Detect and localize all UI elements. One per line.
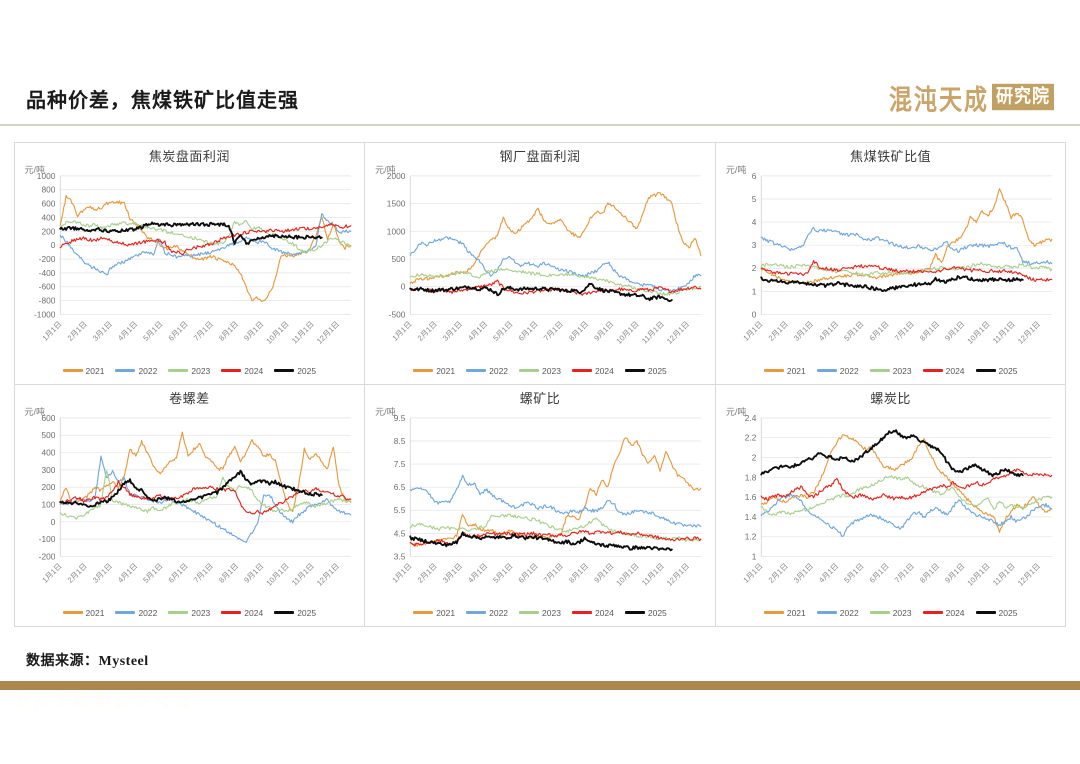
x-axis-tick-label: 2月1日	[416, 561, 439, 584]
legend-label: 2021	[86, 366, 105, 376]
legend-swatch-2023	[519, 611, 539, 614]
x-axis-tick-label: 3月1日	[792, 319, 815, 342]
y-axis-tick-label: 1.8	[745, 472, 757, 482]
legend-swatch-2023	[519, 369, 539, 372]
chart-panel-coke-board-profit: 元/吨焦炭盘面利润-1000-800-600-400-2000200400600…	[14, 142, 366, 385]
x-axis-tick-label: 5月1日	[842, 319, 865, 342]
chart-plot-area: -50005001000150020001月1日2月1日3月1日4月1日5月1日…	[371, 166, 709, 360]
legend-item-2023[interactable]: 2023	[870, 366, 912, 376]
y-axis-tick-label: 800	[41, 184, 55, 194]
x-axis-tick-label: 5月1日	[141, 561, 164, 584]
y-axis-tick-label: 600	[41, 412, 55, 422]
y-axis-tick-label: 200	[41, 226, 55, 236]
legend-swatch-2024	[923, 611, 943, 614]
y-axis-tick-label: 100	[41, 499, 55, 509]
legend-label: 2024	[946, 366, 965, 376]
legend-label: 2022	[840, 608, 859, 618]
legend-item-2021[interactable]: 2021	[413, 608, 455, 618]
brand-logo: 混沌天成 研究院	[889, 80, 1054, 114]
series-line-2021	[60, 195, 351, 301]
legend-item-2021[interactable]: 2021	[63, 366, 105, 376]
x-axis-tick-label: 7月1日	[542, 561, 565, 584]
x-axis-tick-label: 7月1日	[542, 319, 565, 342]
legend-item-2024[interactable]: 2024	[923, 608, 965, 618]
legend-swatch-2025	[625, 369, 645, 372]
x-axis-tick-label: 4月1日	[817, 561, 840, 584]
chart-plot-area: 01234561月1日2月1日3月1日4月1日5月1日6月1日7月1日8月1日9…	[722, 166, 1060, 360]
legend-item-2024[interactable]: 2024	[572, 608, 614, 618]
series-line-2025	[60, 222, 321, 244]
chart-plot-area: -200-10001002003004005006001月1日2月1日3月1日4…	[21, 408, 359, 602]
x-axis-tick-label: 10月1日	[965, 319, 991, 345]
y-axis-tick-label: -100	[38, 534, 55, 544]
x-axis-tick-label: 9月1日	[592, 561, 615, 584]
x-axis-tick-label: 12月1日	[665, 319, 691, 345]
legend-label: 2024	[244, 366, 263, 376]
y-axis-tick-label: 5	[752, 193, 757, 203]
legend-label: 2025	[648, 366, 667, 376]
y-axis-tick-label: 9.5	[394, 412, 406, 422]
legend-label: 2025	[999, 608, 1018, 618]
y-axis-tick-label: 1000	[36, 170, 55, 180]
legend-label: 2024	[244, 608, 263, 618]
x-axis-tick-label: 11月1日	[991, 319, 1017, 345]
y-axis-tick-label: 0	[50, 240, 55, 250]
x-axis-tick-label: 1月1日	[40, 561, 63, 584]
chart-legend: 20212022202320242025	[371, 602, 709, 624]
legend-label: 2024	[946, 608, 965, 618]
x-axis-tick-label: 9月1日	[592, 319, 615, 342]
y-axis-tick-label: 600	[41, 198, 55, 208]
chart-panel-rebar-coke-ratio: 元/吨螺炭比11.21.41.61.822.22.41月1日2月1日3月1日4月…	[715, 384, 1067, 627]
x-axis-tick-label: 7月1日	[893, 561, 916, 584]
legend-item-2024[interactable]: 2024	[572, 366, 614, 376]
data-source-label: 数据来源：	[26, 654, 99, 669]
chart-title: 焦煤铁矿比值	[722, 147, 1060, 166]
x-axis-tick-label: 10月1日	[965, 561, 991, 587]
y-axis-tick-label: -200	[38, 551, 55, 561]
legend-label: 2021	[436, 608, 455, 618]
legend-item-2022[interactable]: 2022	[115, 608, 157, 618]
y-axis-tick-label: 8.5	[394, 435, 406, 445]
x-axis-tick-label: 5月1日	[141, 319, 164, 342]
y-axis-tick-label: 500	[392, 253, 406, 263]
legend-item-2024[interactable]: 2024	[221, 366, 263, 376]
chart-legend: 20212022202320242025	[21, 602, 359, 624]
legend-swatch-2024	[572, 611, 592, 614]
chart-legend: 20212022202320242025	[21, 360, 359, 382]
legend-label: 2022	[489, 608, 508, 618]
y-axis-tick-label: 6	[752, 170, 757, 180]
x-axis-tick-label: 10月1日	[615, 561, 641, 587]
legend-swatch-2021	[764, 611, 784, 614]
x-axis-tick-label: 3月1日	[90, 319, 113, 342]
legend-label: 2025	[297, 366, 316, 376]
y-axis-tick-label: 1500	[387, 198, 406, 208]
legend-item-2025[interactable]: 2025	[625, 366, 667, 376]
series-line-2022	[761, 493, 1052, 536]
header-divider-rule	[0, 124, 1080, 126]
x-axis-tick-label: 2月1日	[65, 319, 88, 342]
legend-label: 2024	[595, 366, 614, 376]
legend-swatch-2025	[274, 611, 294, 614]
x-axis-tick-label: 9月1日	[242, 319, 265, 342]
chart-legend: 20212022202320242025	[722, 360, 1060, 382]
legend-label: 2025	[999, 366, 1018, 376]
chart-title: 钢厂盘面利润	[371, 147, 709, 166]
y-axis-tick-label: -600	[38, 281, 55, 291]
y-axis-tick-label: 7.5	[394, 459, 406, 469]
x-axis-tick-label: 3月1日	[441, 319, 464, 342]
y-axis-tick-label: 1.2	[745, 531, 757, 541]
x-axis-tick-label: 3月1日	[90, 561, 113, 584]
x-axis-tick-label: 8月1日	[918, 561, 941, 584]
y-axis-tick-label: 3.5	[394, 551, 406, 561]
x-axis-tick-label: 5月1日	[492, 319, 515, 342]
x-axis-tick-label: 5月1日	[842, 561, 865, 584]
series-line-2022	[761, 227, 1052, 264]
legend-item-2022[interactable]: 2022	[817, 366, 859, 376]
chart-title: 螺矿比	[371, 389, 709, 408]
legend-swatch-2023	[168, 369, 188, 372]
chart-plot-area: 11.21.41.61.822.22.41月1日2月1日3月1日4月1日5月1日…	[722, 408, 1060, 602]
y-axis-tick-label: -1000	[34, 309, 56, 319]
legend-label: 2025	[648, 608, 667, 618]
legend-swatch-2022	[466, 369, 486, 372]
x-axis-tick-label: 6月1日	[867, 561, 890, 584]
y-axis-tick-label: 400	[41, 212, 55, 222]
x-axis-tick-label: 4月1日	[116, 319, 139, 342]
x-axis-tick-label: 11月1日	[290, 319, 316, 345]
y-axis-tick-label: 1.6	[745, 492, 757, 502]
x-axis-tick-label: 4月1日	[817, 319, 840, 342]
x-axis-tick-label: 2月1日	[767, 319, 790, 342]
x-axis-tick-label: 6月1日	[517, 561, 540, 584]
series-line-2021	[410, 437, 701, 545]
chart-panel-coking-coal-iron-ore-ratio: 元/吨焦煤铁矿比值01234561月1日2月1日3月1日4月1日5月1日6月1日…	[715, 142, 1067, 385]
legend-item-2025[interactable]: 2025	[625, 608, 667, 618]
legend-swatch-2025	[976, 369, 996, 372]
y-axis-tick-label: 2.4	[745, 412, 757, 422]
x-axis-tick-label: 1月1日	[741, 319, 764, 342]
chart-title: 卷螺差	[21, 389, 359, 408]
page-title: 品种价差，焦煤铁矿比值走强	[26, 84, 299, 113]
legend-swatch-2023	[870, 611, 890, 614]
y-axis-tick-label: -400	[38, 267, 55, 277]
legend-label: 2024	[595, 608, 614, 618]
legend-label: 2023	[191, 366, 210, 376]
legend-swatch-2023	[870, 369, 890, 372]
legend-item-2022[interactable]: 2022	[817, 608, 859, 618]
logo-seal-characters: 混沌天成	[889, 77, 989, 117]
legend-item-2023[interactable]: 2023	[168, 366, 210, 376]
y-axis-tick-label: 2000	[387, 170, 406, 180]
series-line-2022	[410, 475, 701, 527]
legend-swatch-2024	[221, 611, 241, 614]
legend-item-2022[interactable]: 2022	[115, 366, 157, 376]
legend-swatch-2022	[466, 611, 486, 614]
y-axis-tick-label: 1.4	[745, 511, 757, 521]
x-axis-tick-label: 12月1日	[1016, 561, 1042, 587]
x-axis-tick-label: 12月1日	[1016, 319, 1042, 345]
x-axis-tick-label: 7月1日	[191, 561, 214, 584]
legend-label: 2023	[893, 366, 912, 376]
x-axis-tick-label: 9月1日	[943, 561, 966, 584]
x-axis-tick-label: 8月1日	[567, 319, 590, 342]
x-axis-tick-label: 11月1日	[640, 319, 666, 345]
legend-swatch-2021	[413, 611, 433, 614]
x-axis-tick-label: 1月1日	[391, 319, 414, 342]
legend-label: 2022	[840, 366, 859, 376]
chart-title: 焦炭盘面利润	[21, 147, 359, 166]
x-axis-tick-label: 10月1日	[615, 319, 641, 345]
x-axis-tick-label: 8月1日	[217, 561, 240, 584]
series-line-2024	[60, 223, 351, 254]
legend-item-2025[interactable]: 2025	[274, 608, 316, 618]
y-axis-tick-label: 4	[752, 217, 757, 227]
y-axis-tick-label: 1000	[387, 226, 406, 236]
legend-item-2021[interactable]: 2021	[413, 366, 455, 376]
y-axis-tick-label: -800	[38, 295, 55, 305]
x-axis-tick-label: 7月1日	[191, 319, 214, 342]
legend-label: 2021	[86, 608, 105, 618]
x-axis-tick-label: 10月1日	[264, 561, 290, 587]
y-axis-tick-label: 1	[752, 551, 757, 561]
x-axis-tick-label: 4月1日	[466, 561, 489, 584]
x-axis-tick-label: 10月1日	[264, 319, 290, 345]
footer-accent-bar	[0, 681, 1080, 690]
x-axis-tick-label: 12月1日	[314, 319, 340, 345]
legend-item-2022[interactable]: 2022	[466, 608, 508, 618]
legend-label: 2022	[138, 608, 157, 618]
y-axis-tick-label: 1	[752, 286, 757, 296]
legend-swatch-2022	[817, 611, 837, 614]
x-axis-tick-label: 8月1日	[918, 319, 941, 342]
legend-item-2021[interactable]: 2021	[764, 366, 806, 376]
chart-plot-area: 3.54.55.56.57.58.59.51月1日2月1日3月1日4月1日5月1…	[371, 408, 709, 602]
x-axis-tick-label: 4月1日	[116, 561, 139, 584]
series-line-2021	[410, 192, 701, 283]
legend-item-2021[interactable]: 2021	[63, 608, 105, 618]
x-axis-tick-label: 11月1日	[290, 561, 316, 587]
legend-label: 2021	[787, 366, 806, 376]
series-line-2021	[761, 434, 1052, 532]
legend-swatch-2022	[115, 611, 135, 614]
x-axis-tick-label: 2月1日	[767, 561, 790, 584]
x-axis-tick-label: 8月1日	[567, 561, 590, 584]
legend-item-2023[interactable]: 2023	[870, 608, 912, 618]
legend-label: 2023	[542, 608, 561, 618]
x-axis-tick-label: 3月1日	[792, 561, 815, 584]
data-source-note: 数据来源：Mysteel	[26, 650, 149, 670]
legend-item-2023[interactable]: 2023	[519, 608, 561, 618]
x-axis-tick-label: 6月1日	[166, 561, 189, 584]
y-axis-tick-label: -200	[38, 253, 55, 263]
y-axis-tick-label: 3	[752, 240, 757, 250]
x-axis-tick-label: 2月1日	[416, 319, 439, 342]
x-axis-tick-label: 12月1日	[314, 561, 340, 587]
legend-swatch-2022	[115, 369, 135, 372]
series-line-2022	[410, 236, 701, 292]
legend-swatch-2024	[923, 369, 943, 372]
x-axis-tick-label: 7月1日	[893, 319, 916, 342]
x-axis-tick-label: 1月1日	[40, 319, 63, 342]
chart-legend: 20212022202320242025	[722, 602, 1060, 624]
y-axis-tick-label: 0	[50, 516, 55, 526]
slide-header: 品种价差，焦煤铁矿比值走强 混沌天成 研究院	[0, 0, 1080, 126]
chart-legend: 20212022202320242025	[371, 360, 709, 382]
x-axis-tick-label: 6月1日	[166, 319, 189, 342]
legend-swatch-2025	[625, 611, 645, 614]
legend-swatch-2023	[168, 611, 188, 614]
y-axis-tick-label: 6.5	[394, 482, 406, 492]
legend-label: 2022	[138, 366, 157, 376]
legend-label: 2023	[542, 366, 561, 376]
legend-item-2025[interactable]: 2025	[976, 366, 1018, 376]
legend-item-2021[interactable]: 2021	[764, 608, 806, 618]
legend-item-2025[interactable]: 2025	[976, 608, 1018, 618]
y-axis-tick-label: 300	[41, 464, 55, 474]
series-line-2025	[761, 276, 1022, 291]
y-axis-tick-label: 4.5	[394, 528, 406, 538]
legend-label: 2023	[191, 608, 210, 618]
x-axis-tick-label: 4月1日	[466, 319, 489, 342]
legend-label: 2021	[787, 608, 806, 618]
legend-item-2023[interactable]: 2023	[519, 366, 561, 376]
y-axis-tick-label: 2.2	[745, 432, 757, 442]
x-axis-tick-label: 11月1日	[640, 561, 666, 587]
x-axis-tick-label: 2月1日	[65, 561, 88, 584]
x-axis-tick-label: 1月1日	[741, 561, 764, 584]
legend-item-2023[interactable]: 2023	[168, 608, 210, 618]
charts-grid: 元/吨焦炭盘面利润-1000-800-600-400-2000200400600…	[14, 142, 1066, 626]
y-axis-tick-label: 0	[401, 281, 406, 291]
legend-swatch-2025	[274, 369, 294, 372]
y-axis-tick-label: 500	[41, 430, 55, 440]
x-axis-tick-label: 3月1日	[441, 561, 464, 584]
x-axis-tick-label: 9月1日	[242, 561, 265, 584]
legend-swatch-2021	[413, 369, 433, 372]
chart-title: 螺炭比	[722, 389, 1060, 408]
legend-swatch-2021	[63, 611, 83, 614]
x-axis-tick-label: 12月1日	[665, 561, 691, 587]
logo-seal-box: 研究院	[992, 84, 1054, 110]
chart-panel-rebar-iron-ore-ratio: 元/吨螺矿比3.54.55.56.57.58.59.51月1日2月1日3月1日4…	[364, 384, 716, 627]
y-axis-tick-label: 0	[752, 309, 757, 319]
x-axis-tick-label: 1月1日	[391, 561, 414, 584]
y-axis-tick-label: -500	[389, 309, 406, 319]
legend-swatch-2025	[976, 611, 996, 614]
x-axis-tick-label: 11月1日	[991, 561, 1017, 587]
legend-item-2024[interactable]: 2024	[221, 608, 263, 618]
x-axis-tick-label: 9月1日	[943, 319, 966, 342]
x-axis-tick-label: 6月1日	[517, 319, 540, 342]
footer-watermark: 混沌天成期货研究院	[14, 690, 194, 711]
x-axis-tick-label: 5月1日	[492, 561, 515, 584]
chart-panel-mill-board-profit: 元/吨钢厂盘面利润-50005001000150020001月1日2月1日3月1…	[364, 142, 716, 385]
legend-item-2022[interactable]: 2022	[466, 366, 508, 376]
legend-label: 2025	[297, 608, 316, 618]
y-axis-tick-label: 2	[752, 263, 757, 273]
x-axis-tick-label: 8月1日	[217, 319, 240, 342]
chart-plot-area: -1000-800-600-400-200020040060080010001月…	[21, 166, 359, 360]
legend-swatch-2022	[817, 369, 837, 372]
legend-swatch-2024	[221, 369, 241, 372]
data-source-value: Mysteel	[99, 654, 149, 669]
legend-label: 2023	[893, 608, 912, 618]
x-axis-tick-label: 6月1日	[867, 319, 890, 342]
legend-item-2024[interactable]: 2024	[923, 366, 965, 376]
legend-swatch-2021	[764, 369, 784, 372]
legend-label: 2021	[436, 366, 455, 376]
y-axis-tick-label: 400	[41, 447, 55, 457]
y-axis-tick-label: 5.5	[394, 505, 406, 515]
chart-panel-hrc-rebar-spread: 元/吨卷螺差-200-10001002003004005006001月1日2月1…	[14, 384, 366, 627]
legend-swatch-2021	[63, 369, 83, 372]
y-axis-tick-label: 2	[752, 452, 757, 462]
legend-item-2025[interactable]: 2025	[274, 366, 316, 376]
y-axis-tick-label: 200	[41, 482, 55, 492]
legend-swatch-2024	[572, 369, 592, 372]
legend-label: 2022	[489, 366, 508, 376]
